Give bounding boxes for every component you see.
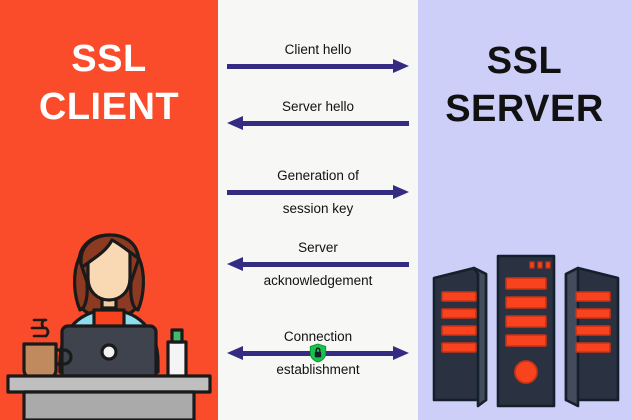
message-label-below: establishment [218, 361, 418, 378]
server-tower-center [498, 256, 554, 406]
client-title-line2: CLIENT [0, 84, 218, 132]
arrow-client-hello [227, 59, 409, 73]
shield-lock-icon [310, 344, 327, 363]
arrow-server-acknowledgement [227, 257, 409, 271]
message-label-above: Server hello [218, 98, 418, 115]
message-label-above: Generation of [218, 167, 418, 184]
desk-body [24, 392, 194, 420]
arrow-server-hello [227, 116, 409, 130]
server-tower-right [566, 268, 618, 406]
message-label-below: session key [218, 200, 418, 217]
arrow-session-key [227, 185, 409, 199]
server-title-line1: SSL [418, 38, 631, 86]
client-panel: SSL CLIENT [0, 0, 218, 420]
server-panel: SSL SERVER [418, 0, 631, 420]
server-power-button [515, 361, 537, 383]
server-status-leds [530, 262, 550, 268]
message-label-above: Server [218, 239, 418, 256]
client-title-line1: SSL [0, 36, 218, 84]
ssl-handshake-diagram: SSL CLIENT [0, 0, 631, 420]
server-title: SSL SERVER [418, 38, 631, 133]
arrow-head-left-icon [227, 116, 243, 130]
message-label-above: Connection [218, 328, 418, 345]
laptop-logo [102, 345, 116, 359]
arrow-head-left-icon [227, 346, 243, 360]
client-title: SSL CLIENT [0, 36, 218, 131]
server-tower-left [434, 268, 486, 406]
message-label-above: Client hello [218, 41, 418, 58]
arrow-head-right-icon [393, 185, 409, 199]
arrow-shaft [242, 121, 409, 126]
message-server-hello: Server hello [218, 98, 418, 131]
steam-lines [32, 320, 48, 336]
client-illustration [2, 196, 216, 420]
message-client-hello: Client hello [218, 41, 418, 74]
message-session-key: Generation of session key [218, 167, 418, 218]
arrow-head-right-icon [393, 346, 409, 360]
message-connection-establishment: Connection establishment [218, 328, 418, 379]
server-illustration [430, 240, 622, 410]
arrow-shaft [242, 262, 409, 267]
server-title-line2: SERVER [418, 86, 631, 134]
arrow-shaft [227, 64, 394, 69]
coffee-mug [24, 344, 56, 378]
message-server-acknowledgement: Server acknowledgement [218, 239, 418, 290]
arrow-head-right-icon [393, 59, 409, 73]
arrow-head-left-icon [227, 257, 243, 271]
arrow-shaft [227, 190, 394, 195]
water-bottle-cap [172, 330, 182, 342]
arrow-connection-establishment [227, 346, 409, 360]
desk-top [8, 376, 210, 392]
message-label-below: acknowledgement [218, 272, 418, 289]
water-bottle-body [168, 342, 186, 378]
message-flow-panel: Client hello Server hello Generation of … [218, 0, 418, 420]
